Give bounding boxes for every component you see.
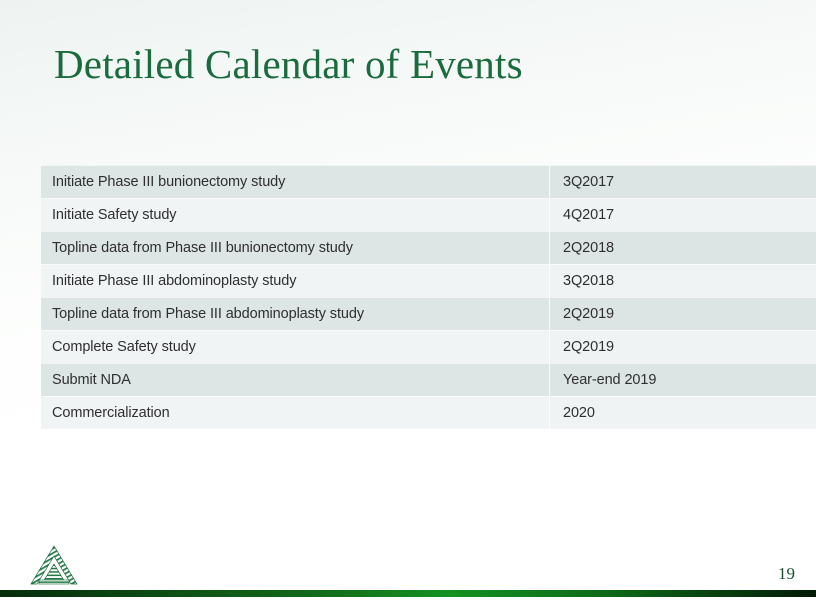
company-triangle-logo (27, 544, 81, 586)
date-cell: 4Q2017 (549, 198, 816, 231)
table-row: Submit NDA Year-end 2019 (41, 363, 816, 396)
date-cell: 2Q2019 (549, 297, 816, 330)
event-cell: Submit NDA (41, 363, 549, 396)
date-cell: 2020 (549, 396, 816, 429)
event-cell: Initiate Phase III abdominoplasty study (41, 264, 549, 297)
event-cell: Topline data from Phase III bunionectomy… (41, 231, 549, 264)
date-cell: 2Q2018 (549, 231, 816, 264)
page-number: 19 (778, 564, 795, 584)
table-row: Topline data from Phase III bunionectomy… (41, 231, 816, 264)
table-row: Commercialization 2020 (41, 396, 816, 429)
table-row: Topline data from Phase III abdominoplas… (41, 297, 816, 330)
date-cell: 2Q2019 (549, 330, 816, 363)
table-row: Initiate Phase III abdominoplasty study … (41, 264, 816, 297)
slide-canvas: Detailed Calendar of Events Initiate Pha… (0, 0, 816, 612)
event-cell: Initiate Phase III bunionectomy study (41, 165, 549, 198)
event-cell: Topline data from Phase III abdominoplas… (41, 297, 549, 330)
date-cell: Year-end 2019 (549, 363, 816, 396)
table-body: Initiate Phase III bunionectomy study 3Q… (41, 165, 816, 429)
date-cell: 3Q2017 (549, 165, 816, 198)
page-title: Detailed Calendar of Events (54, 38, 523, 90)
event-cell: Initiate Safety study (41, 198, 549, 231)
calendar-of-events-table: Initiate Phase III bunionectomy study 3Q… (41, 165, 816, 429)
table-row: Initiate Safety study 4Q2017 (41, 198, 816, 231)
date-cell: 3Q2018 (549, 264, 816, 297)
footer-accent-bar (0, 590, 816, 597)
table-row: Initiate Phase III bunionectomy study 3Q… (41, 165, 816, 198)
event-cell: Commercialization (41, 396, 549, 429)
table-row: Complete Safety study 2Q2019 (41, 330, 816, 363)
event-cell: Complete Safety study (41, 330, 549, 363)
